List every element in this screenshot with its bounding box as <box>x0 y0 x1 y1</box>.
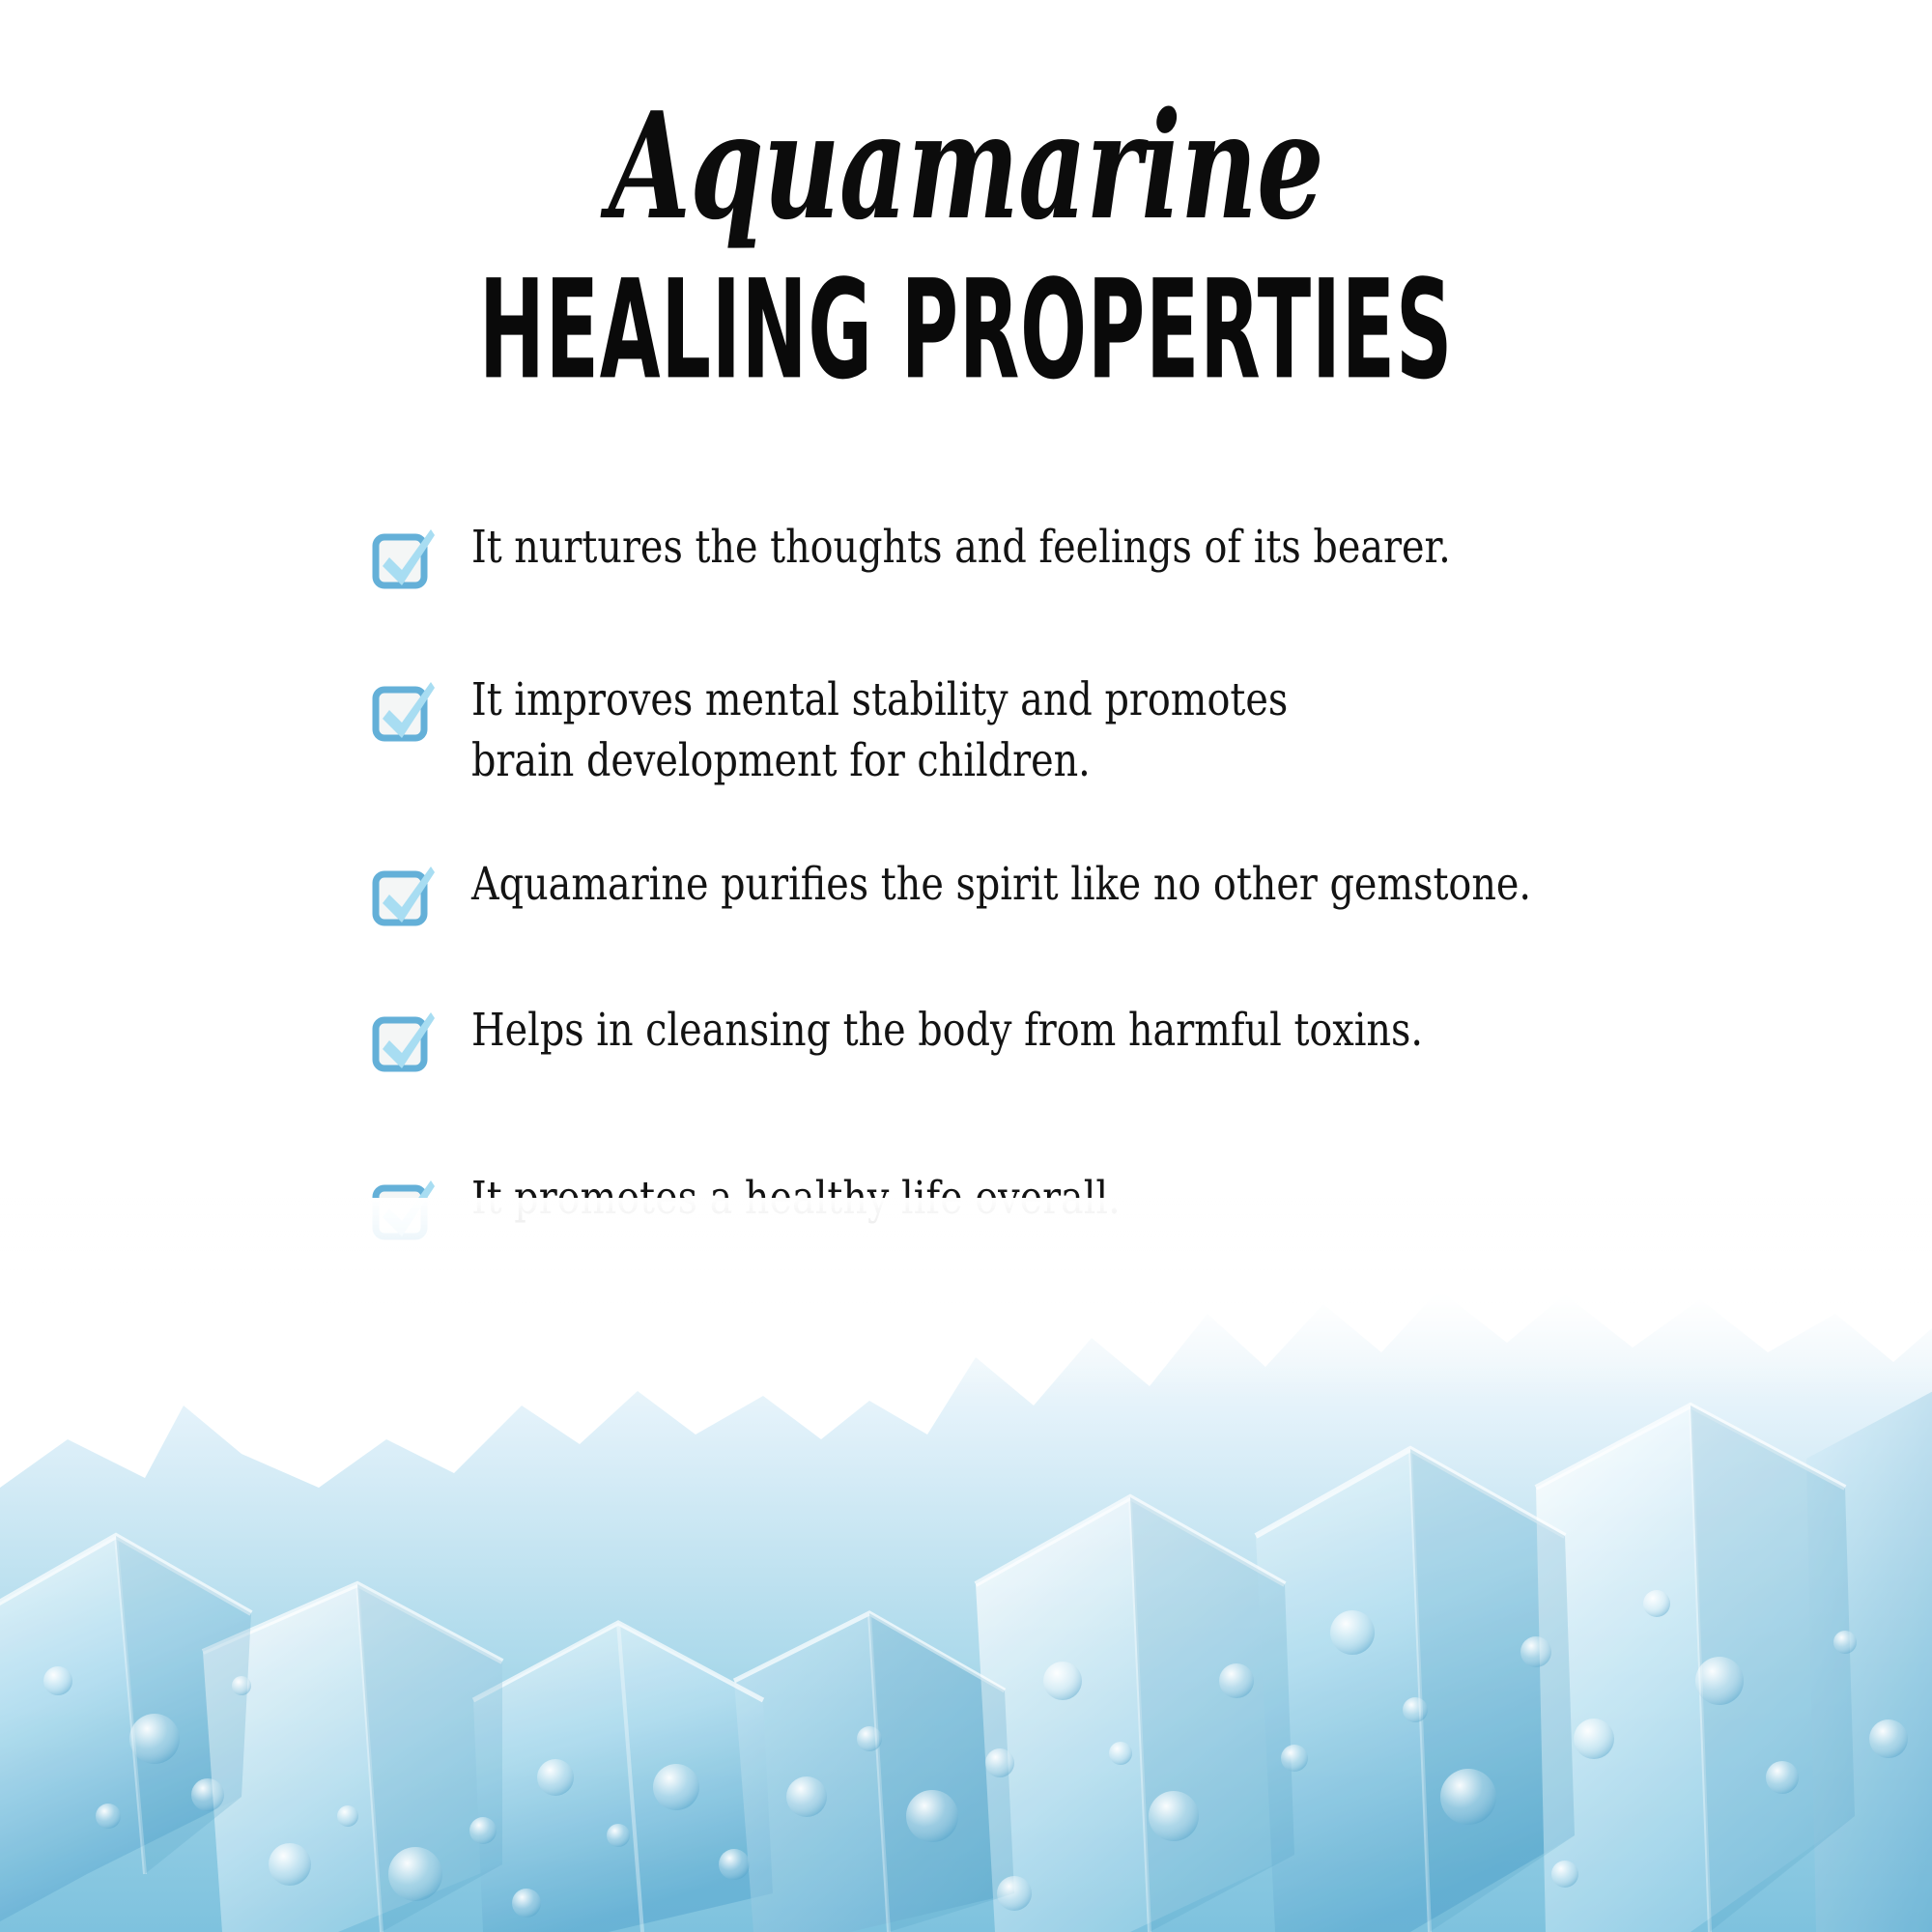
list-item: Aquamarine purifies the spirit like no o… <box>373 855 1803 932</box>
poster-canvas: Aquamarine HEALING PROPERTIES It nurture… <box>0 0 1932 1932</box>
page-subtitle: HEALING PROPERTIES <box>290 263 1642 400</box>
checked-checkbox-icon <box>373 535 427 595</box>
list-item-label: It nurtures the thoughts and feelings of… <box>471 518 1596 579</box>
checked-checkbox-icon <box>373 688 427 748</box>
checked-checkbox-icon <box>373 1018 427 1078</box>
page-title: Aquamarine <box>270 93 1662 240</box>
checked-checkbox-icon <box>373 872 427 932</box>
ice-cubes-photo <box>0 1198 1932 1932</box>
list-item-label: It improves mental stability and promote… <box>471 670 1596 791</box>
title-block: Aquamarine HEALING PROPERTIES <box>0 93 1932 375</box>
healing-properties-list: It nurtures the thoughts and feelings of… <box>373 518 1803 1246</box>
list-item-label: Aquamarine purifies the spirit like no o… <box>471 855 1596 916</box>
list-item: It improves mental stability and promote… <box>373 670 1803 791</box>
list-item: It nurtures the thoughts and feelings of… <box>373 518 1803 595</box>
list-item-label: Helps in cleansing the body from harmful… <box>471 1001 1596 1062</box>
list-item: Helps in cleansing the body from harmful… <box>373 1001 1803 1078</box>
